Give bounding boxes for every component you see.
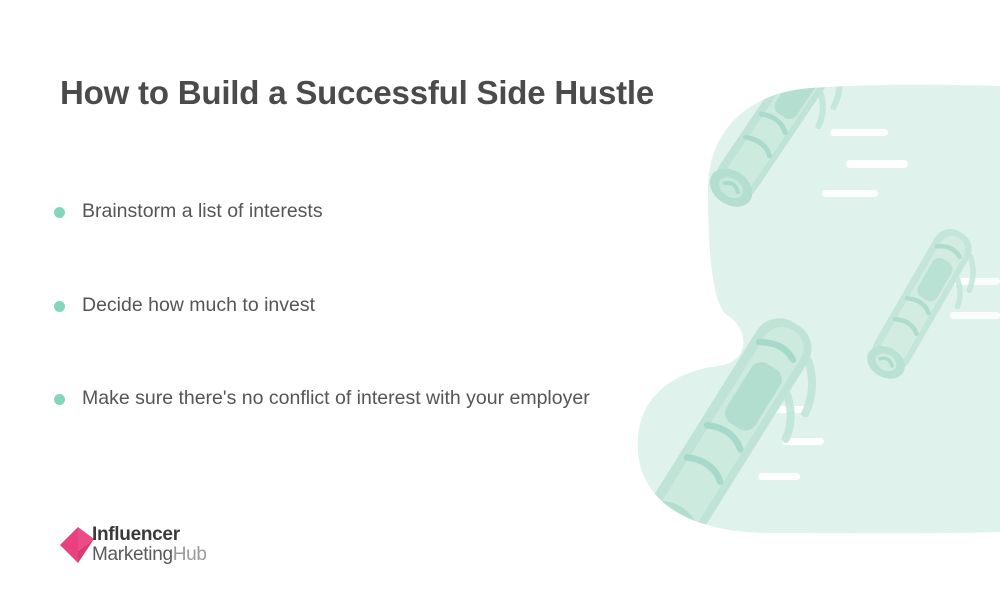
brand-logo-line1: Influencer: [92, 525, 207, 545]
list-item: Decide how much to invest: [54, 290, 694, 322]
money-roll-mid: [861, 222, 992, 393]
list-item: Make sure there's no conflict of interes…: [54, 383, 694, 415]
bullet-dot-icon: [54, 301, 65, 312]
pink-left-arrow-icon: [60, 525, 94, 565]
brand-logo: Influencer MarketingHub: [60, 521, 207, 569]
slide-canvas: How to Build a Successful Side Hustle Br…: [0, 0, 1000, 600]
list-item-label: Decide how much to invest: [82, 294, 315, 316]
bullet-dot-icon: [54, 394, 65, 405]
brand-logo-hub: Hub: [173, 544, 207, 565]
brand-logo-text: Influencer MarketingHub: [92, 525, 207, 565]
list-item: Brainstorm a list of interests: [54, 196, 694, 228]
money-roll-upper: [702, 29, 862, 224]
page-title: How to Build a Successful Side Hustle: [60, 73, 740, 113]
brand-logo-marketing: Marketing: [92, 544, 173, 565]
speed-lines-mid: [930, 278, 1000, 319]
speed-lines-lower: [758, 406, 824, 480]
brand-logo-line2: MarketingHub: [92, 545, 207, 565]
list-item-label: Make sure there's no conflict of interes…: [82, 387, 590, 409]
list-item-label: Brainstorm a list of interests: [82, 200, 323, 222]
speed-lines-upper: [822, 129, 908, 197]
bullet-list: Brainstorm a list of interests Decide ho…: [54, 196, 694, 415]
bullet-dot-icon: [54, 207, 65, 218]
